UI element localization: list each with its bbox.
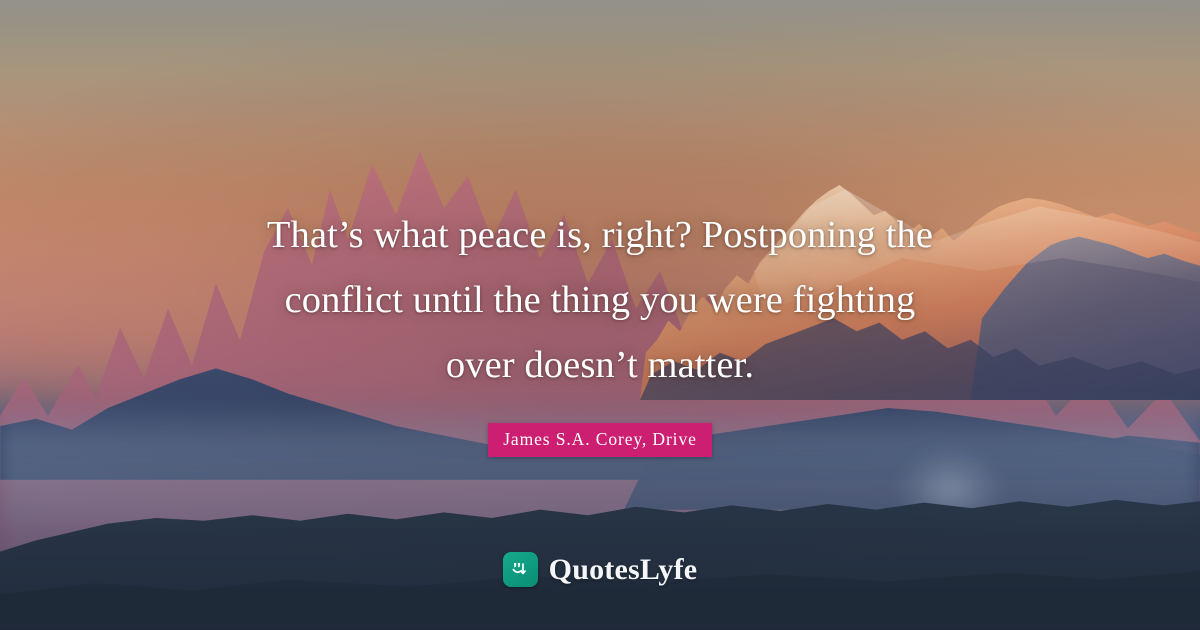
quote-smiley-icon xyxy=(503,552,538,587)
quote-text: That’s what peace is, right? Postponing … xyxy=(200,203,1000,398)
attribution-badge[interactable]: James S.A. Corey, Drive xyxy=(488,423,712,457)
brand-name: QuotesLyfe xyxy=(549,553,698,587)
card-content: That’s what peace is, right? Postponing … xyxy=(0,0,1200,630)
brand-logo[interactable]: QuotesLyfe xyxy=(0,552,1200,587)
quote-line-1: That’s what peace is, right? Postponing … xyxy=(200,203,1000,268)
quote-card: That’s what peace is, right? Postponing … xyxy=(0,0,1200,630)
quote-line-2: conflict until the thing you were fighti… xyxy=(200,268,1000,333)
quote-line-3: over doesn’t matter. xyxy=(200,333,1000,398)
